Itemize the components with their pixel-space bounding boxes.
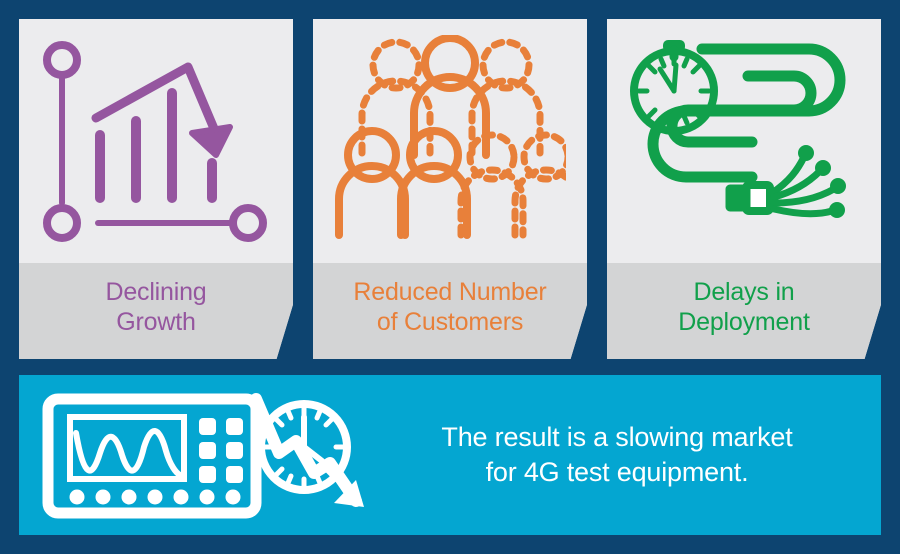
- card-label-declining-growth: Declining Growth: [19, 263, 293, 359]
- oscilloscope-clock-declining-arrow-icon: [19, 385, 379, 525]
- card-label-line1: Delays in: [693, 278, 794, 306]
- people-group-icon: [313, 19, 587, 263]
- banner-message-line2: for 4G test equipment.: [379, 455, 855, 490]
- card-label-reduced-customers: Reduced Number of Customers: [313, 263, 587, 359]
- result-banner: The result is a slowing market for 4G te…: [19, 375, 881, 535]
- card-reduced-customers[interactable]: Reduced Number of Customers: [313, 19, 587, 359]
- card-declining-growth[interactable]: Declining Growth: [19, 19, 293, 359]
- card-label-line1: Reduced Number: [353, 278, 546, 306]
- stopwatch-fiber-cable-icon: [607, 19, 881, 263]
- declining-bar-chart-icon: [19, 19, 293, 263]
- card-label-line1: Declining: [105, 278, 206, 306]
- card-label-delays-deployment: Delays in Deployment: [607, 263, 881, 359]
- card-label-line2: Deployment: [678, 308, 809, 336]
- infographic-canvas: Declining Growth: [0, 0, 900, 554]
- card-label-line2: Growth: [116, 308, 195, 336]
- cards-row: Declining Growth: [19, 19, 881, 359]
- card-delays-deployment[interactable]: Delays in Deployment: [607, 19, 881, 359]
- banner-message: The result is a slowing market for 4G te…: [379, 420, 881, 490]
- card-label-line2: of Customers: [377, 308, 523, 336]
- banner-message-line1: The result is a slowing market: [441, 422, 792, 452]
